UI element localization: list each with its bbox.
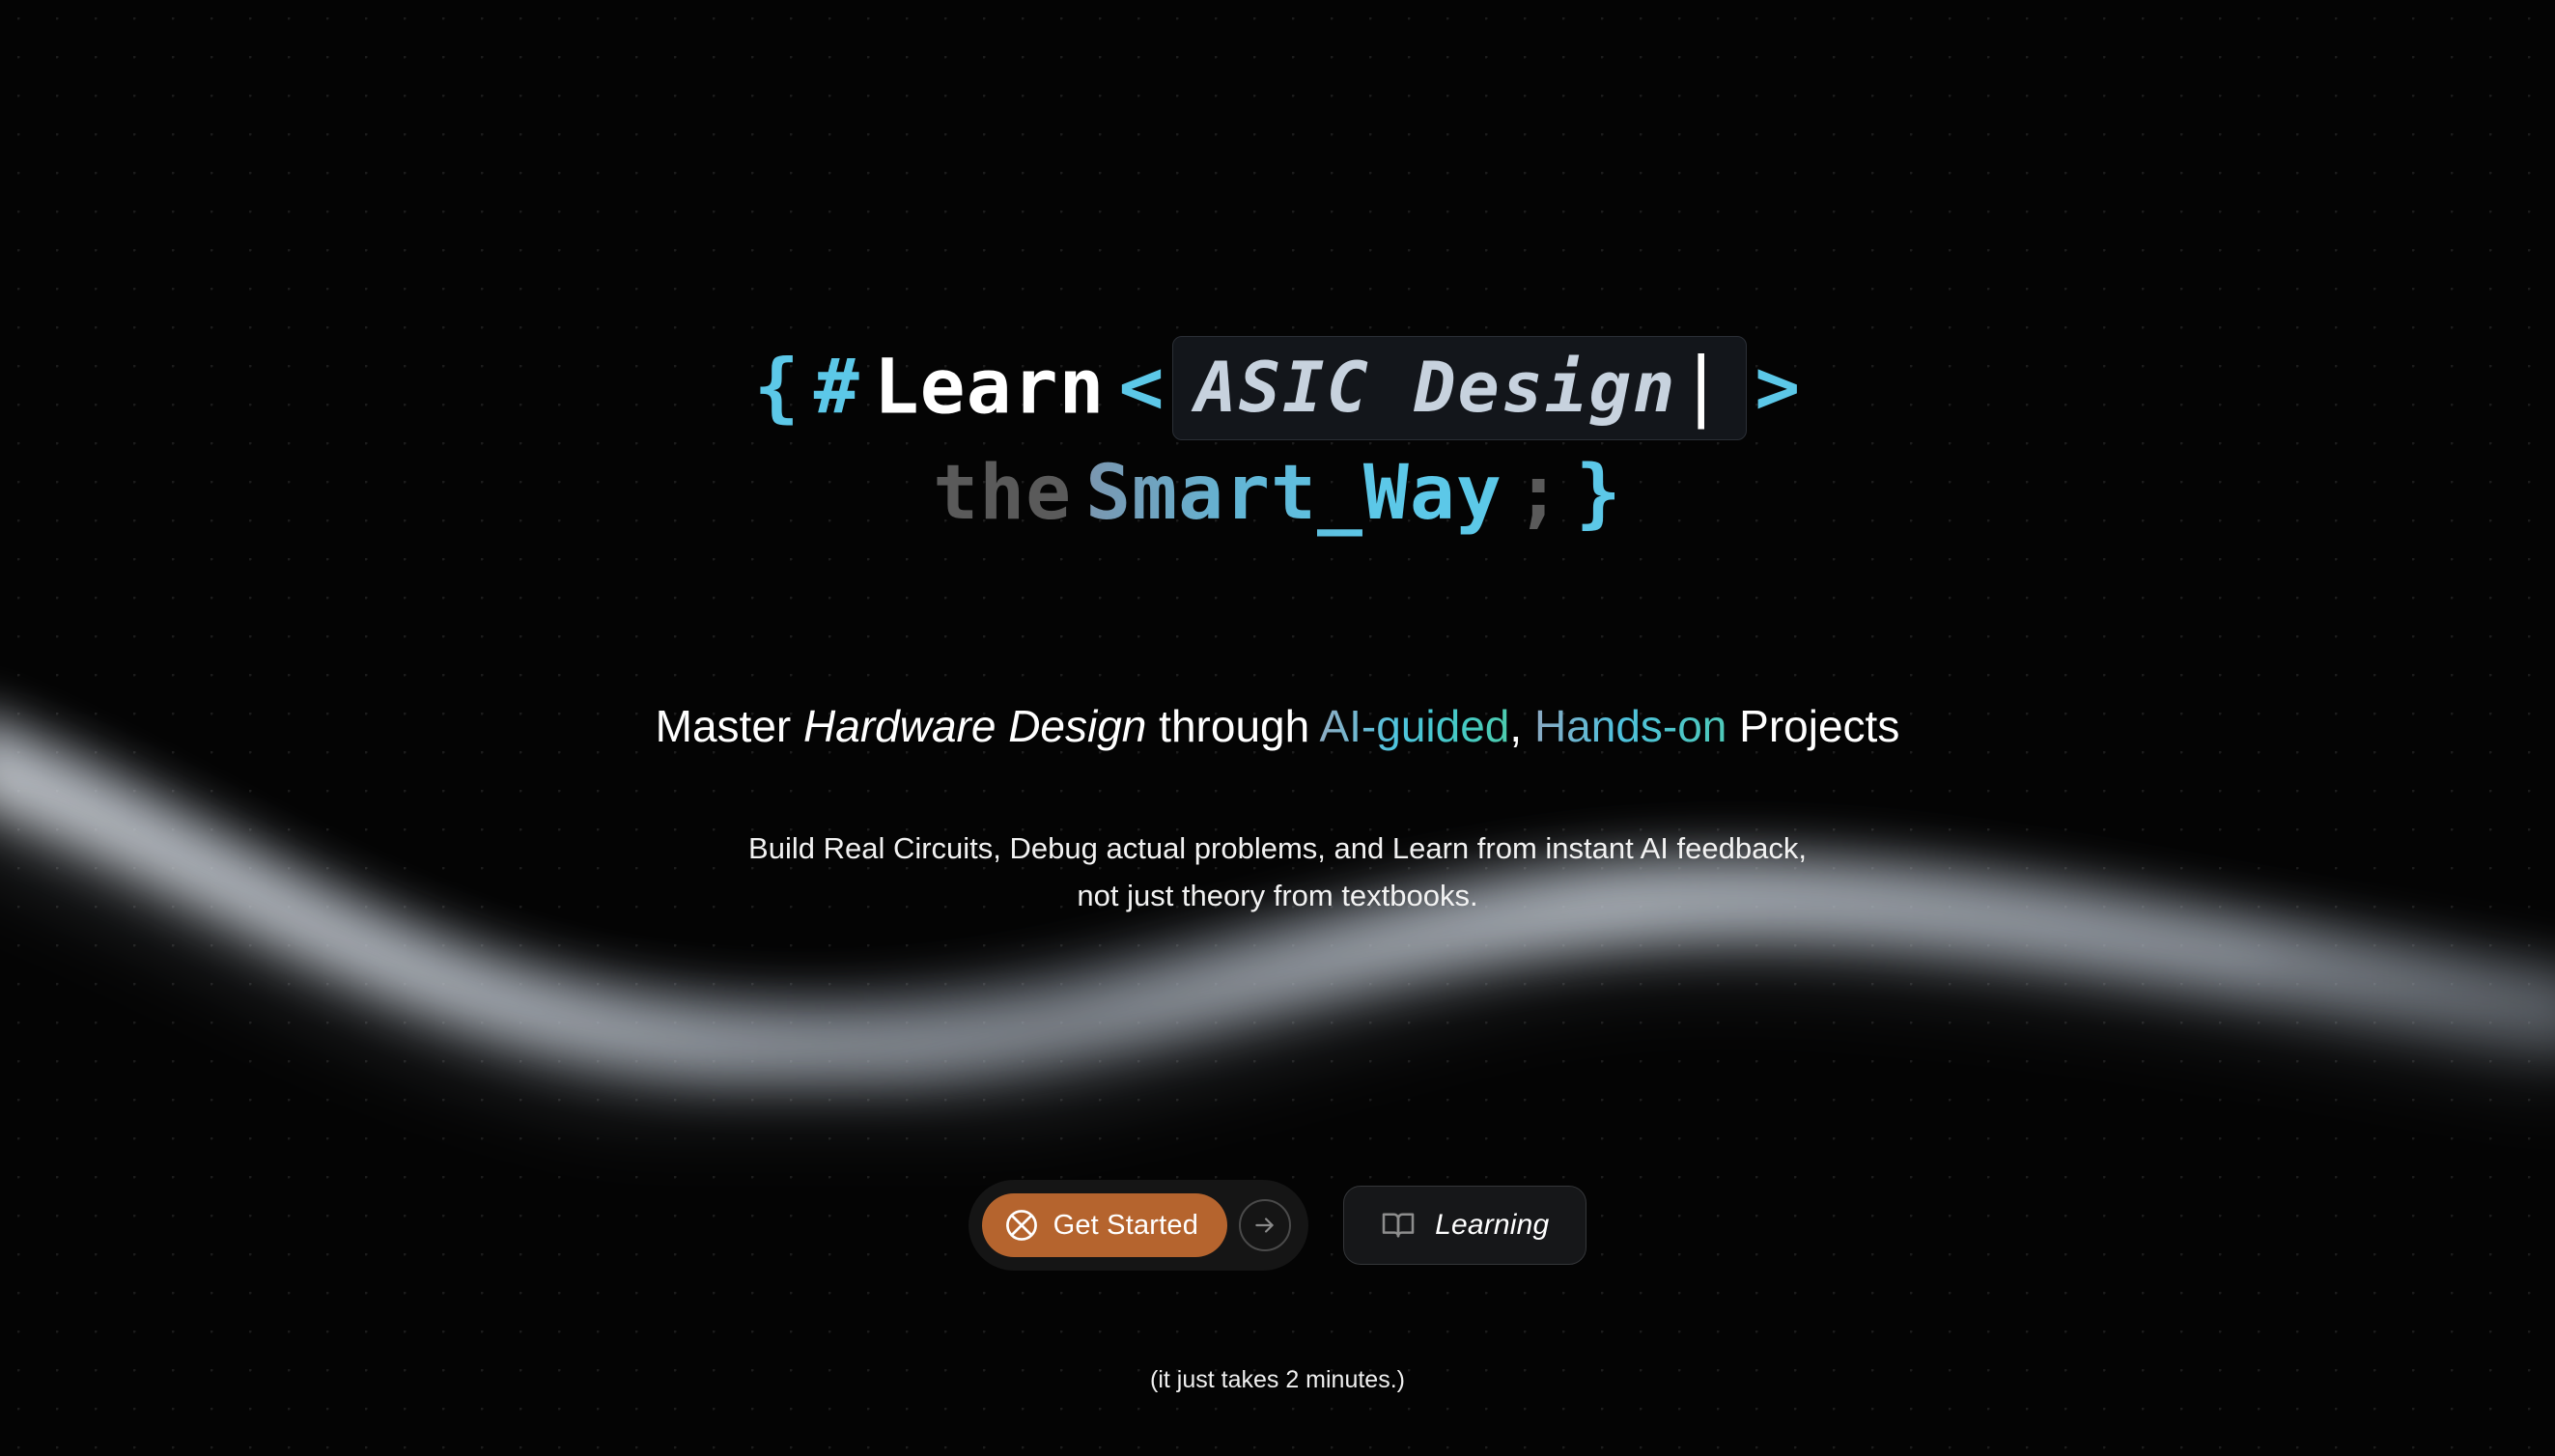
get-started-button[interactable]: Get Started [982, 1193, 1228, 1257]
subheadline-highlight-hands-on: Hands-on [1534, 701, 1727, 751]
subheadline-part-1: Master [656, 701, 803, 751]
circle-x-icon [1003, 1207, 1040, 1244]
asic-design-input-value: ASIC Design [1194, 347, 1676, 428]
open-brace-token: { [754, 344, 800, 431]
hash-token: # [814, 344, 860, 431]
primary-cta-group[interactable]: Get Started [969, 1180, 1309, 1271]
hero-description: Build Real Circuits, Debug actual proble… [0, 826, 2555, 920]
subheadline-part-3: Projects [1727, 701, 1899, 751]
learning-button[interactable]: Learning [1343, 1186, 1586, 1265]
description-line-1: Build Real Circuits, Debug actual proble… [0, 826, 2555, 873]
cta-arrow-button[interactable] [1239, 1199, 1291, 1251]
learning-label: Learning [1435, 1209, 1549, 1242]
subheadline-part-2: through [1146, 701, 1319, 751]
subheadline-highlight-ai-guided: AI-guided [1319, 701, 1509, 751]
cta-footnote: (it just takes 2 minutes.) [0, 1366, 2555, 1394]
the-token: the [933, 450, 1072, 537]
open-book-icon [1381, 1208, 1416, 1243]
page-title: {#Learn<ASIC Design|> theSmart_Way;} [0, 340, 2555, 532]
subheadline: Master Hardware Design through AI-guided… [0, 700, 2555, 752]
cta-row: Get Started Learning [0, 1180, 2555, 1271]
get-started-label: Get Started [1053, 1210, 1199, 1242]
hero-section: {#Learn<ASIC Design|> theSmart_Way;} Mas… [0, 0, 2555, 1456]
headline-line-2: theSmart_Way;} [0, 456, 2555, 533]
angle-open-token: < [1119, 344, 1165, 431]
hero-content: {#Learn<ASIC Design|> theSmart_Way;} Mas… [0, 0, 2555, 1456]
description-line-2: not just theory from textbooks. [0, 873, 2555, 920]
subheadline-emphasis: Hardware Design [803, 701, 1146, 751]
semicolon-token: ; [1516, 450, 1562, 537]
subheadline-comma: , [1509, 701, 1534, 751]
asic-design-input-field[interactable]: ASIC Design| [1172, 336, 1747, 440]
learn-token: Learn [874, 344, 1106, 431]
angle-close-token: > [1755, 344, 1801, 431]
headline-line-1: {#Learn<ASIC Design|> [0, 340, 2555, 444]
smart-way-token: Smart_Way [1085, 450, 1502, 537]
text-caret: | [1678, 349, 1725, 426]
close-brace-token: } [1576, 450, 1622, 537]
arrow-right-icon [1252, 1213, 1277, 1238]
